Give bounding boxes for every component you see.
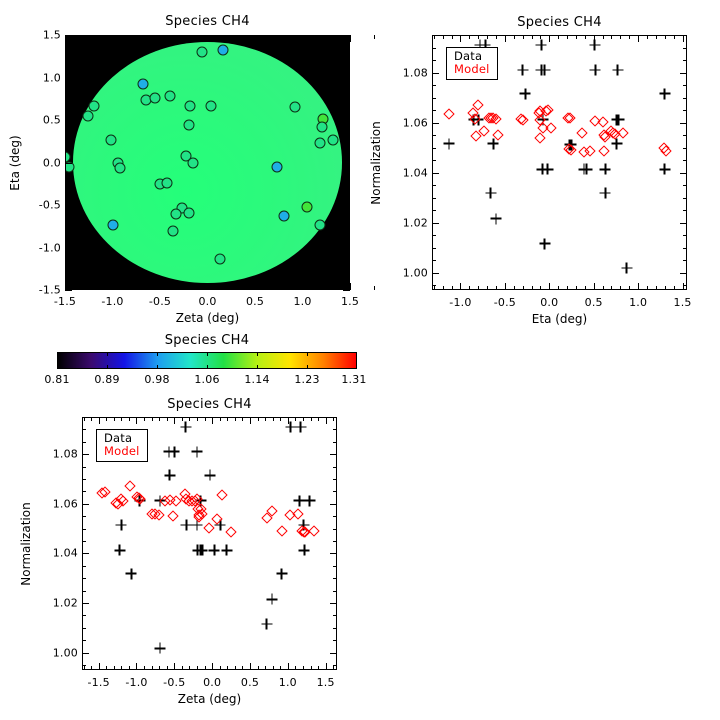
normalization-vs-zeta-x-minor-tick	[159, 417, 160, 421]
normalization-vs-eta-y-minor-tick	[683, 260, 687, 261]
normalization-vs-zeta-x-minor-tick	[182, 417, 183, 421]
zeta-scatter-x-axis-label: Zeta (deg)	[178, 692, 241, 706]
normalization-vs-eta-x-minor-tick	[638, 35, 639, 39]
colorbar-title: Species CH4	[165, 333, 250, 348]
normalization-vs-eta-y-minor-tick	[432, 48, 436, 49]
normalization-vs-eta-x-minor-tick	[603, 286, 604, 290]
normalization-vs-zeta-x-minor-tick	[205, 417, 206, 421]
field-map-x-tick	[303, 283, 304, 290]
normalization-vs-zeta-x-minor-tick	[303, 417, 304, 421]
legend-model-label: Model	[454, 63, 490, 76]
normalization-vs-eta-x-minor-tick	[620, 286, 621, 290]
field-map-x-tick	[350, 35, 351, 42]
normalization-vs-zeta-y-tick-label: 1.02	[38, 597, 78, 610]
normalization-vs-eta-y-minor-tick	[432, 285, 436, 286]
normalization-vs-zeta-x-minor-tick	[235, 417, 236, 421]
data-plus-marker[interactable]	[116, 519, 127, 530]
normalization-vs-zeta-x-minor-tick	[197, 417, 198, 421]
field-map-y-tick	[65, 205, 72, 206]
field-map-x-minor-tick	[89, 35, 90, 39]
field-map-x-tick	[303, 35, 304, 42]
field-map-x-tick-label: 1.5	[341, 295, 359, 308]
data-plus-marker[interactable]	[304, 495, 315, 506]
data-plus-marker[interactable]	[221, 545, 232, 556]
normalization-vs-eta-x-minor-tick	[665, 286, 666, 290]
normalization-vs-eta-x-minor-tick	[505, 35, 506, 39]
normalization-vs-eta-y-minor-tick	[683, 148, 687, 149]
normalization-vs-zeta-x-tick-label: 1.0	[279, 676, 297, 689]
normalization-vs-zeta-x-minor-tick	[295, 417, 296, 421]
field-map-y-tick-label: 1.0	[23, 71, 61, 84]
normalization-vs-eta-y-minor-tick	[432, 260, 436, 261]
model-diamond-marker[interactable]	[216, 489, 227, 500]
normalization-vs-eta-y-minor-tick	[432, 223, 436, 224]
normalization-vs-eta-x-tick-label: -0.5	[494, 296, 516, 309]
data-plus-marker[interactable]	[126, 568, 137, 579]
normalization-vs-zeta-x-minor-tick	[220, 417, 221, 421]
normalization-vs-eta-y-minor-tick	[432, 98, 436, 99]
normalization-vs-eta-y-tick-label: 1.04	[388, 166, 428, 179]
normalization-vs-zeta-y-minor-tick	[82, 628, 86, 629]
normalization-vs-zeta-y-tick-label: 1.06	[38, 497, 78, 510]
normalization-vs-eta-x-tick-label: 1.5	[674, 296, 692, 309]
normalization-vs-eta-x-minor-tick	[594, 286, 595, 290]
normalization-vs-zeta-x-tick-label: 1.5	[317, 676, 335, 689]
normalization-vs-zeta-y-minor-tick	[82, 442, 86, 443]
normalization-vs-zeta-y-minor-tick	[333, 553, 337, 554]
field-map-x-minor-tick	[184, 286, 185, 290]
normalization-vs-eta-x-minor-tick	[460, 286, 461, 290]
normalization-vs-zeta-y-minor-tick	[82, 566, 86, 567]
data-plus-marker[interactable]	[294, 495, 305, 506]
normalization-vs-zeta-x-minor-tick	[189, 417, 190, 421]
normalization-vs-zeta-x-minor-tick	[235, 666, 236, 670]
normalization-vs-zeta-x-tick-label: -1.0	[125, 676, 147, 689]
field-map-frame	[65, 35, 350, 290]
normalization-vs-eta-x-minor-tick	[558, 35, 559, 39]
colorbar-tick	[157, 352, 158, 356]
normalization-vs-eta-x-minor-tick	[594, 35, 595, 39]
normalization-vs-eta-x-minor-tick	[576, 35, 577, 39]
normalization-vs-eta-x-minor-tick	[629, 35, 630, 39]
normalization-vs-zeta-y-minor-tick	[333, 479, 337, 480]
normalization-vs-zeta-x-minor-tick	[159, 666, 160, 670]
data-plus-marker[interactable]	[490, 213, 501, 224]
field-map-x-tick	[208, 35, 209, 42]
normalization-vs-zeta-x-minor-tick	[212, 666, 213, 670]
normalization-vs-zeta-x-minor-tick	[265, 417, 266, 421]
normalization-vs-zeta-x-minor-tick	[114, 666, 115, 670]
normalization-vs-eta-y-minor-tick	[683, 173, 687, 174]
model-diamond-marker[interactable]	[617, 127, 628, 138]
data-plus-marker[interactable]	[517, 65, 528, 76]
field-map-y-tick	[343, 78, 350, 79]
model-diamond-marker[interactable]	[167, 510, 178, 521]
normalization-vs-zeta-x-minor-tick	[258, 666, 259, 670]
normalization-vs-zeta-x-minor-tick	[227, 417, 228, 421]
field-map-x-tick	[255, 35, 256, 42]
field-map-x-tick	[350, 283, 351, 290]
panel-normalization-vs-eta: Species CH4 Data Model Eta (deg) Normali…	[370, 0, 720, 340]
normalization-vs-zeta-y-minor-tick	[82, 578, 86, 579]
normalization-vs-zeta-x-minor-tick	[258, 417, 259, 421]
normalization-vs-zeta-y-minor-tick	[333, 504, 337, 505]
normalization-vs-zeta-y-minor-tick	[82, 541, 86, 542]
model-diamond-marker[interactable]	[125, 481, 136, 492]
normalization-vs-zeta-y-minor-tick	[333, 541, 337, 542]
field-map-x-tick	[208, 283, 209, 290]
normalization-vs-zeta-y-minor-tick	[82, 479, 86, 480]
normalization-vs-zeta-x-minor-tick	[167, 666, 168, 670]
normalization-vs-zeta-y-minor-tick	[333, 578, 337, 579]
data-plus-marker[interactable]	[621, 263, 632, 274]
normalization-vs-eta-y-tick-label: 1.06	[388, 116, 428, 129]
field-map-x-tick	[255, 283, 256, 290]
normalization-vs-zeta-x-minor-tick	[114, 417, 115, 421]
data-plus-marker[interactable]	[443, 138, 454, 149]
data-plus-marker[interactable]	[581, 164, 592, 175]
normalization-vs-eta-x-minor-tick	[487, 286, 488, 290]
field-map-y-tick	[65, 163, 72, 164]
normalization-vs-zeta-x-minor-tick	[84, 666, 85, 670]
data-plus-marker[interactable]	[659, 164, 670, 175]
data-plus-marker[interactable]	[613, 114, 624, 125]
normalization-vs-zeta-x-minor-tick	[265, 666, 266, 670]
panel-normalization-vs-zeta: Species CH4 Data Model Zeta (deg) Normal…	[0, 385, 380, 720]
normalization-vs-zeta-y-minor-tick	[333, 591, 337, 592]
data-plus-marker[interactable]	[204, 470, 215, 481]
normalization-vs-zeta-y-tick-label: 1.00	[38, 646, 78, 659]
field-map-x-tick-label: 0.5	[246, 295, 264, 308]
normalization-vs-zeta-y-minor-tick	[333, 516, 337, 517]
field-map-y-tick	[65, 78, 72, 79]
model-diamond-marker[interactable]	[308, 526, 319, 537]
normalization-vs-eta-x-minor-tick	[452, 286, 453, 290]
data-plus-marker[interactable]	[180, 421, 191, 432]
normalization-vs-eta-x-minor-tick	[683, 286, 684, 290]
field-map-x-tick	[160, 35, 161, 42]
eta-scatter-y-axis-label: Normalization	[369, 121, 383, 204]
normalization-vs-eta-x-minor-tick	[514, 35, 515, 39]
normalization-vs-eta-x-minor-tick	[576, 286, 577, 290]
normalization-vs-zeta-y-minor-tick	[82, 417, 86, 418]
normalization-vs-eta-x-tick-label: 1.0	[629, 296, 647, 309]
normalization-vs-zeta-x-minor-tick	[91, 417, 92, 421]
data-plus-marker[interactable]	[197, 545, 208, 556]
model-diamond-marker[interactable]	[225, 526, 236, 537]
colorbar-tick	[107, 352, 108, 356]
normalization-vs-zeta-y-minor-tick	[333, 491, 337, 492]
field-map-y-tick-label: -1.5	[23, 284, 61, 297]
field-map-y-tick	[65, 120, 72, 121]
normalization-vs-zeta-x-minor-tick	[99, 666, 100, 670]
model-diamond-marker[interactable]	[203, 523, 214, 534]
normalization-vs-zeta-y-minor-tick	[333, 665, 337, 666]
normalization-vs-zeta-y-minor-tick	[333, 640, 337, 641]
colorbar-tick	[207, 365, 208, 369]
data-plus-marker[interactable]	[114, 545, 125, 556]
field-map-y-axis-label: Eta (deg)	[8, 135, 22, 190]
colorbar-tick	[307, 365, 308, 369]
normalization-vs-zeta-x-minor-tick	[189, 666, 190, 670]
normalization-vs-zeta-x-tick-label: -0.5	[163, 676, 185, 689]
normalization-vs-eta-x-minor-tick	[585, 35, 586, 39]
normalization-vs-zeta-x-minor-tick	[326, 417, 327, 421]
field-map-x-minor-tick	[326, 35, 327, 39]
normalization-vs-zeta-x-minor-tick	[174, 417, 175, 421]
normalization-vs-zeta-x-minor-tick	[227, 666, 228, 670]
normalization-vs-zeta-x-minor-tick	[280, 417, 281, 421]
normalization-vs-eta-x-minor-tick	[656, 35, 657, 39]
data-plus-marker[interactable]	[600, 164, 611, 175]
normalization-vs-zeta-y-minor-tick	[82, 591, 86, 592]
normalization-vs-eta-x-minor-tick	[638, 286, 639, 290]
data-plus-marker[interactable]	[612, 65, 623, 76]
normalization-vs-eta-y-minor-tick	[432, 235, 436, 236]
normalization-vs-eta-x-minor-tick	[585, 286, 586, 290]
normalization-vs-zeta-y-minor-tick	[333, 653, 337, 654]
normalization-vs-eta-x-minor-tick	[647, 35, 648, 39]
normalization-vs-zeta-y-minor-tick	[82, 615, 86, 616]
normalization-vs-zeta-x-minor-tick	[242, 666, 243, 670]
normalization-vs-eta-y-minor-tick	[432, 35, 436, 36]
normalization-vs-zeta-x-tick-label: 0.5	[241, 676, 259, 689]
data-plus-marker[interactable]	[169, 446, 180, 457]
normalization-vs-eta-y-minor-tick	[683, 160, 687, 161]
normalization-vs-zeta-x-minor-tick	[318, 417, 319, 421]
zeta-scatter-y-axis-label: Normalization	[19, 502, 33, 585]
data-plus-marker[interactable]	[266, 594, 277, 605]
normalization-vs-zeta-x-minor-tick	[311, 666, 312, 670]
field-map-y-tick-label: 1.5	[23, 29, 61, 42]
model-diamond-marker[interactable]	[276, 526, 287, 537]
normalization-vs-eta-y-minor-tick	[683, 235, 687, 236]
normalization-vs-eta-x-minor-tick	[540, 286, 541, 290]
normalization-vs-eta-x-minor-tick	[656, 286, 657, 290]
normalization-vs-eta-x-minor-tick	[567, 35, 568, 39]
normalization-vs-eta-x-minor-tick	[620, 35, 621, 39]
normalization-vs-zeta-x-minor-tick	[121, 417, 122, 421]
normalization-vs-eta-y-minor-tick	[683, 248, 687, 249]
field-map-x-minor-tick	[89, 286, 90, 290]
panel-field-map: Species CH4 Zeta (deg) Eta (deg) -1.5-1.…	[0, 0, 370, 340]
normalization-vs-zeta-y-minor-tick	[82, 491, 86, 492]
normalization-vs-zeta-y-tick-label: 1.08	[38, 448, 78, 461]
normalization-vs-zeta-y-minor-tick	[82, 516, 86, 517]
normalization-vs-zeta-y-minor-tick	[333, 628, 337, 629]
model-diamond-marker[interactable]	[599, 145, 610, 156]
data-plus-marker[interactable]	[181, 519, 192, 530]
normalization-vs-eta-x-minor-tick	[443, 286, 444, 290]
colorbar-tick	[207, 352, 208, 356]
normalization-vs-eta-y-minor-tick	[432, 210, 436, 211]
panel-colorbar: Species CH4 0.810.890.981.061.141.231.31	[0, 330, 370, 385]
normalization-vs-eta-y-minor-tick	[432, 110, 436, 111]
normalization-vs-zeta-x-minor-tick	[91, 666, 92, 670]
normalization-vs-eta-y-minor-tick	[432, 198, 436, 199]
field-map-x-minor-tick	[184, 35, 185, 39]
normalization-vs-zeta-x-minor-tick	[212, 417, 213, 421]
normalization-vs-eta-y-minor-tick	[683, 185, 687, 186]
field-map-x-tick-label: -1.5	[54, 295, 76, 308]
field-map-x-minor-tick	[231, 35, 232, 39]
normalization-vs-zeta-x-minor-tick	[288, 417, 289, 421]
field-map-y-tick	[343, 205, 350, 206]
normalization-vs-eta-x-minor-tick	[532, 35, 533, 39]
normalization-vs-zeta-x-minor-tick	[250, 417, 251, 421]
normalization-vs-eta-y-minor-tick	[683, 48, 687, 49]
normalization-vs-zeta-y-minor-tick	[333, 454, 337, 455]
normalization-vs-zeta-y-minor-tick	[333, 615, 337, 616]
normalization-vs-eta-y-minor-tick	[432, 273, 436, 274]
field-map-y-tick	[343, 163, 350, 164]
normalization-vs-eta-x-minor-tick	[460, 35, 461, 39]
data-plus-marker[interactable]	[164, 470, 175, 481]
model-diamond-marker[interactable]	[576, 127, 587, 138]
colorbar-tick	[257, 365, 258, 369]
normalization-vs-zeta-x-minor-tick	[273, 417, 274, 421]
field-map-y-tick	[65, 290, 72, 291]
data-plus-marker[interactable]	[261, 619, 272, 630]
normalization-vs-zeta-y-minor-tick	[82, 529, 86, 530]
model-diamond-marker[interactable]	[293, 508, 304, 519]
normalization-vs-zeta-x-tick-label: -1.5	[88, 676, 110, 689]
field-map-y-tick-label: -0.5	[23, 199, 61, 212]
normalization-vs-zeta-x-minor-tick	[205, 666, 206, 670]
field-map-x-minor-tick	[136, 286, 137, 290]
data-plus-marker[interactable]	[154, 643, 165, 654]
data-plus-marker[interactable]	[520, 88, 531, 99]
normalization-vs-eta-x-minor-tick	[514, 286, 515, 290]
normalization-vs-eta-x-minor-tick	[549, 35, 550, 39]
model-diamond-marker[interactable]	[443, 109, 454, 120]
normalization-vs-zeta-x-minor-tick	[220, 666, 221, 670]
normalization-vs-eta-x-minor-tick	[674, 286, 675, 290]
eta-scatter-title: Species CH4	[517, 15, 602, 30]
data-plus-marker[interactable]	[539, 65, 550, 76]
normalization-vs-eta-y-minor-tick	[432, 185, 436, 186]
normalization-vs-zeta-y-minor-tick	[333, 417, 337, 418]
normalization-vs-eta-x-minor-tick	[647, 286, 648, 290]
data-plus-marker[interactable]	[659, 88, 670, 99]
normalization-vs-zeta-x-minor-tick	[318, 666, 319, 670]
data-plus-marker[interactable]	[611, 138, 622, 149]
normalization-vs-eta-x-minor-tick	[469, 35, 470, 39]
normalization-vs-zeta-y-minor-tick	[333, 467, 337, 468]
normalization-vs-eta-x-minor-tick	[469, 286, 470, 290]
field-map-x-tick	[113, 35, 114, 42]
data-plus-marker[interactable]	[295, 421, 306, 432]
field-map-y-tick	[65, 35, 72, 36]
data-plus-marker[interactable]	[539, 238, 550, 249]
field-map-x-tick	[65, 35, 66, 42]
normalization-vs-zeta-x-minor-tick	[152, 417, 153, 421]
normalization-vs-zeta-x-minor-tick	[280, 666, 281, 670]
normalization-vs-eta-y-minor-tick	[432, 123, 436, 124]
normalization-vs-zeta-x-minor-tick	[106, 666, 107, 670]
normalization-vs-zeta-y-tick-label: 1.04	[38, 547, 78, 560]
normalization-vs-zeta-y-minor-tick	[333, 603, 337, 604]
normalization-vs-eta-x-minor-tick	[665, 35, 666, 39]
normalization-vs-zeta-x-minor-tick	[99, 417, 100, 421]
normalization-vs-zeta-y-minor-tick	[333, 442, 337, 443]
data-plus-marker[interactable]	[600, 188, 611, 199]
normalization-vs-eta-y-minor-tick	[683, 85, 687, 86]
data-plus-marker[interactable]	[299, 545, 310, 556]
normalization-vs-eta-x-minor-tick	[674, 35, 675, 39]
normalization-vs-zeta-x-minor-tick	[288, 666, 289, 670]
normalization-vs-eta-y-minor-tick	[683, 73, 687, 74]
data-plus-marker[interactable]	[536, 40, 547, 51]
normalization-vs-zeta-x-minor-tick	[136, 666, 137, 670]
normalization-vs-eta-y-minor-tick	[432, 173, 436, 174]
field-map-x-tick	[160, 283, 161, 290]
normalization-vs-eta-x-minor-tick	[629, 286, 630, 290]
field-map-y-tick-label: 0.0	[23, 156, 61, 169]
normalization-vs-zeta-x-minor-tick	[167, 417, 168, 421]
normalization-vs-zeta-x-minor-tick	[129, 417, 130, 421]
normalization-vs-zeta-y-minor-tick	[333, 429, 337, 430]
eta-scatter-legend[interactable]: Data Model	[446, 47, 498, 80]
normalization-vs-zeta-y-minor-tick	[82, 665, 86, 666]
field-map-x-tick	[113, 283, 114, 290]
colorbar-tick	[257, 352, 258, 356]
normalization-vs-zeta-y-minor-tick	[333, 529, 337, 530]
field-map-y-tick	[343, 248, 350, 249]
field-map-title: Species CH4	[165, 14, 250, 29]
field-map-x-axis-label: Zeta (deg)	[176, 311, 239, 325]
data-plus-marker[interactable]	[209, 545, 220, 556]
data-plus-marker[interactable]	[485, 188, 496, 199]
normalization-vs-eta-y-minor-tick	[683, 110, 687, 111]
normalization-vs-eta-x-minor-tick	[505, 286, 506, 290]
normalization-vs-eta-y-minor-tick	[683, 60, 687, 61]
normalization-vs-zeta-y-minor-tick	[82, 467, 86, 468]
field-map-x-minor-tick	[231, 286, 232, 290]
field-map-x-tick-label: 0.0	[198, 295, 216, 308]
data-plus-marker[interactable]	[192, 446, 203, 457]
zeta-scatter-title: Species CH4	[167, 397, 252, 412]
normalization-vs-zeta-x-minor-tick	[174, 666, 175, 670]
data-plus-marker[interactable]	[590, 65, 601, 76]
normalization-vs-zeta-x-minor-tick	[144, 417, 145, 421]
legend-model-label: Model	[104, 445, 140, 458]
data-plus-marker[interactable]	[276, 568, 287, 579]
normalization-vs-zeta-y-minor-tick	[82, 454, 86, 455]
field-map-y-tick-label: 0.5	[23, 114, 61, 127]
colorbar-tick	[307, 352, 308, 356]
normalization-vs-eta-x-minor-tick	[487, 35, 488, 39]
normalization-vs-zeta-x-minor-tick	[242, 417, 243, 421]
field-map-x-minor-tick	[136, 35, 137, 39]
normalization-vs-zeta-y-minor-tick	[82, 504, 86, 505]
normalization-vs-eta-x-tick-label: 0.0	[540, 296, 558, 309]
normalization-vs-zeta-x-minor-tick	[129, 666, 130, 670]
normalization-vs-zeta-x-minor-tick	[182, 666, 183, 670]
model-diamond-marker[interactable]	[535, 132, 546, 143]
normalization-vs-zeta-x-minor-tick	[295, 666, 296, 670]
normalization-vs-eta-y-minor-tick	[432, 85, 436, 86]
field-map-y-tick	[343, 290, 350, 291]
zeta-scatter-legend[interactable]: Data Model	[96, 429, 148, 462]
normalization-vs-zeta-y-minor-tick	[82, 553, 86, 554]
normalization-vs-eta-x-minor-tick	[603, 35, 604, 39]
colorbar-tick	[157, 365, 158, 369]
data-plus-marker[interactable]	[542, 164, 553, 175]
normalization-vs-eta-x-minor-tick	[434, 286, 435, 290]
normalization-vs-eta-x-minor-tick	[452, 35, 453, 39]
normalization-vs-eta-x-minor-tick	[496, 286, 497, 290]
